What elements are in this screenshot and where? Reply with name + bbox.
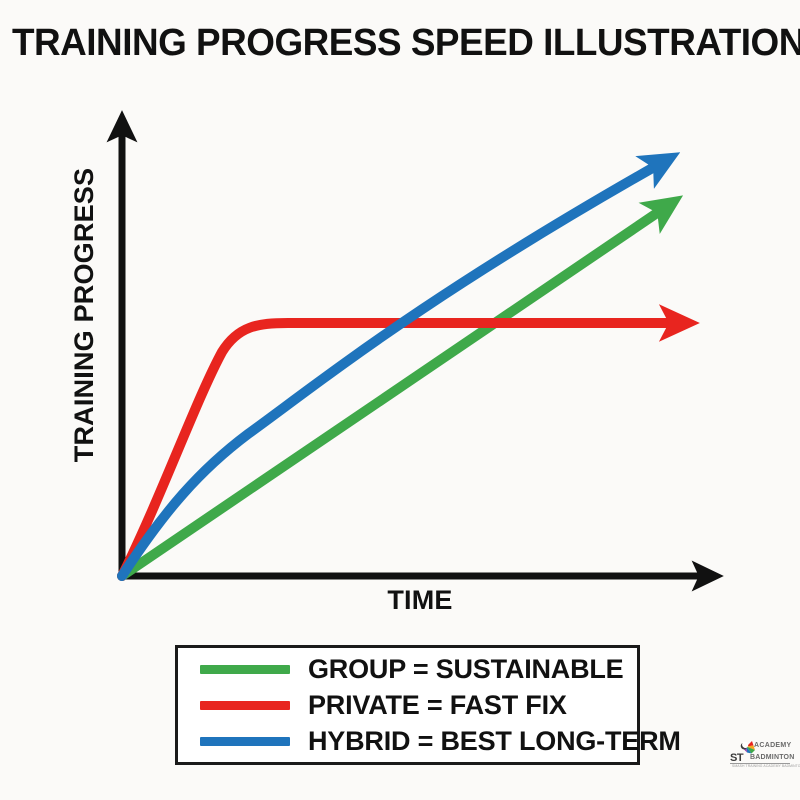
chart-canvas: TRAINING PROGRESS SPEED ILLUSTRATION bbox=[0, 0, 800, 800]
brand-tagline: SMASH TRAINING ACADEMY BADMINTON bbox=[732, 764, 800, 768]
legend-swatch-green-icon bbox=[200, 665, 290, 674]
series-line-private bbox=[122, 323, 672, 576]
y-axis-label: TRAINING PROGRESS bbox=[62, 150, 106, 480]
legend-label-private: PRIVATE = FAST FIX bbox=[308, 690, 567, 720]
legend-item-group[interactable]: GROUP = SUSTAINABLE bbox=[178, 652, 637, 686]
x-axis-label: TIME bbox=[290, 585, 550, 616]
legend-swatch-red-icon bbox=[200, 701, 290, 710]
legend: GROUP = SUSTAINABLE PRIVATE = FAST FIX H… bbox=[175, 645, 640, 765]
brand-discipline-text: BADMINTON bbox=[750, 754, 794, 762]
series-line-hybrid bbox=[122, 166, 656, 576]
legend-label-hybrid: HYBRID = BEST LONG-TERM bbox=[308, 726, 681, 756]
legend-label-group: GROUP = SUSTAINABLE bbox=[308, 654, 624, 684]
brand-academy-text: ACADEMY bbox=[754, 742, 792, 750]
brand-logo: ST ACADEMY BADMINTON SMASH TRAINING ACAD… bbox=[728, 739, 792, 767]
legend-item-hybrid[interactable]: HYBRID = BEST LONG-TERM bbox=[178, 724, 637, 758]
legend-item-private[interactable]: PRIVATE = FAST FIX bbox=[178, 688, 637, 722]
legend-swatch-blue-icon bbox=[200, 737, 290, 746]
